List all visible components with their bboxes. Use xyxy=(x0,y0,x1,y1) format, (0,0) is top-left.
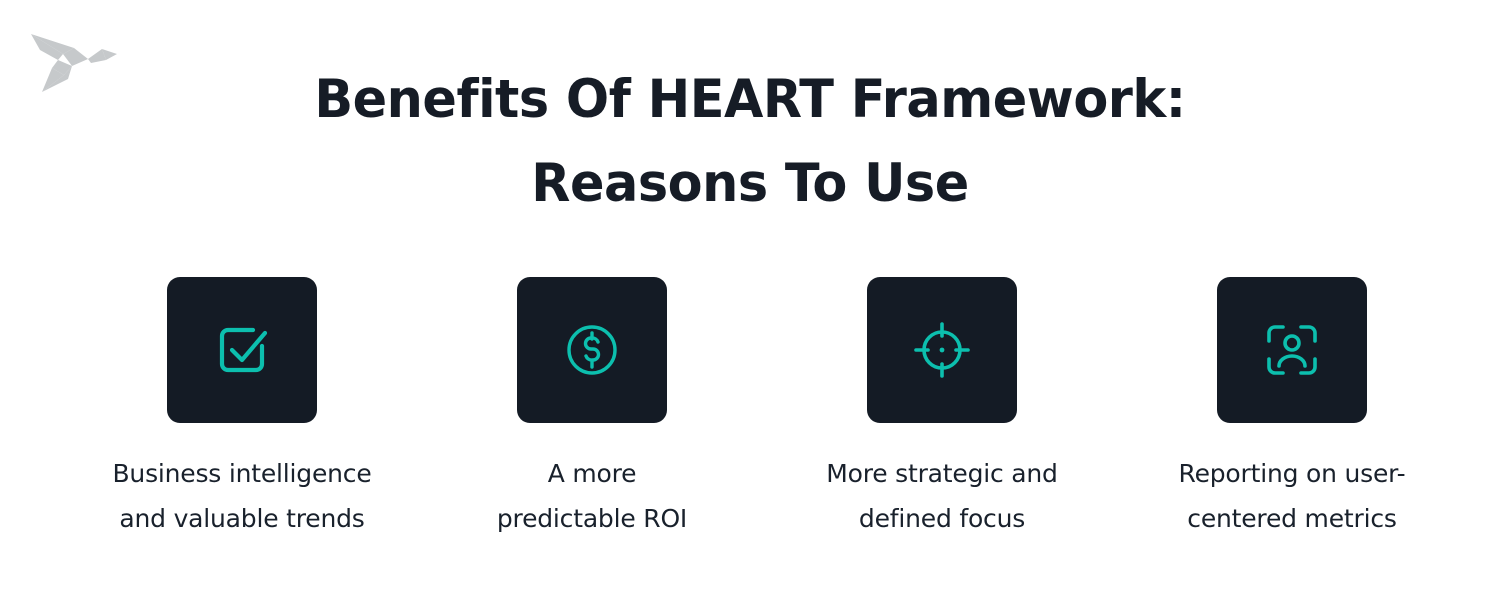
benefit-icon-tile xyxy=(1217,277,1367,423)
benefit-card-predictable-roi: A more predictable ROI xyxy=(417,277,767,541)
title-line-1: Benefits Of HEART Framework: xyxy=(30,58,1470,142)
user-scan-frame-icon xyxy=(1256,314,1328,386)
crosshair-target-icon xyxy=(906,314,978,386)
benefit-caption-line-1: Reporting on user- xyxy=(1127,451,1457,496)
benefit-card-business-intelligence: Business intelligence and valuable trend… xyxy=(67,277,417,541)
check-square-icon xyxy=(206,314,278,386)
benefit-caption: A more predictable ROI xyxy=(427,451,757,541)
benefit-caption-line-2: centered metrics xyxy=(1127,496,1457,541)
benefit-caption-line-1: A more xyxy=(427,451,757,496)
benefit-icon-tile xyxy=(517,277,667,423)
benefit-card-user-centered-metrics: Reporting on user- centered metrics xyxy=(1117,277,1467,541)
benefit-caption-line-2: predictable ROI xyxy=(427,496,757,541)
benefit-card-strategic-focus: More strategic and defined focus xyxy=(767,277,1117,541)
dollar-circle-icon xyxy=(556,314,628,386)
benefit-caption-line-1: Business intelligence xyxy=(77,451,407,496)
benefit-caption-line-2: defined focus xyxy=(777,496,1107,541)
benefit-icon-tile xyxy=(867,277,1017,423)
page-title: Benefits Of HEART Framework: Reasons To … xyxy=(0,58,1500,226)
benefit-caption: Business intelligence and valuable trend… xyxy=(77,451,407,541)
benefit-caption-line-2: and valuable trends xyxy=(77,496,407,541)
benefits-list: Business intelligence and valuable trend… xyxy=(0,277,1500,541)
title-line-2: Reasons To Use xyxy=(30,142,1470,226)
benefit-caption: More strategic and defined focus xyxy=(777,451,1107,541)
benefit-caption: Reporting on user- centered metrics xyxy=(1127,451,1457,541)
benefit-caption-line-1: More strategic and xyxy=(777,451,1107,496)
benefit-icon-tile xyxy=(167,277,317,423)
